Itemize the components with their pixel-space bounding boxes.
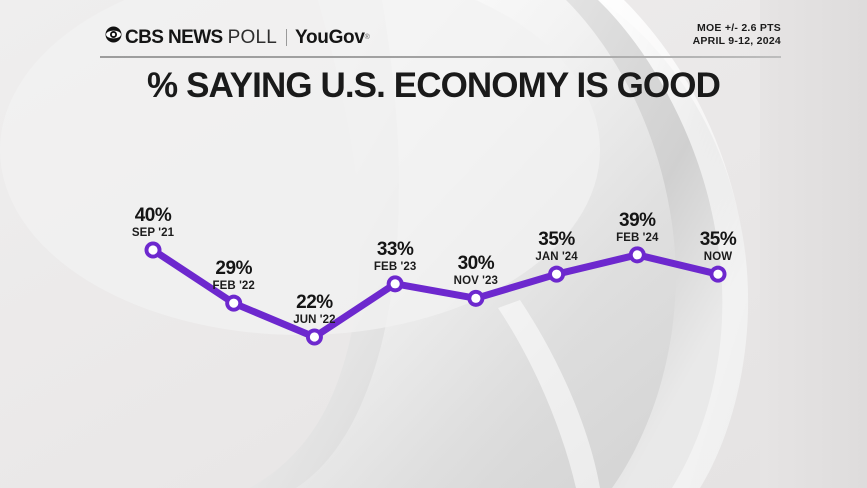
data-point-label: 22%JUN '22 <box>293 293 335 327</box>
data-point-value: 35% <box>700 230 737 249</box>
line-chart-plot <box>0 0 867 488</box>
data-point-marker <box>225 295 242 312</box>
data-point-label: 30%NOV '23 <box>454 254 498 288</box>
data-point-label: 35%NOW <box>700 230 737 264</box>
data-point-date: FEB '22 <box>212 281 254 293</box>
data-point-date: JAN '24 <box>535 252 577 264</box>
data-point-label: 29%FEB '22 <box>212 259 254 293</box>
data-point-label: 33%FEB '23 <box>374 240 416 274</box>
data-point-date: SEP '21 <box>132 228 174 240</box>
data-point-value: 29% <box>212 259 254 278</box>
data-point-marker <box>145 242 162 259</box>
data-point-label: 39%FEB '24 <box>616 211 658 245</box>
data-point-value: 35% <box>535 230 577 249</box>
data-point-value: 39% <box>616 211 658 230</box>
data-point-value: 30% <box>454 254 498 273</box>
data-point-label: 40%SEP '21 <box>132 206 174 240</box>
data-point-label: 35%JAN '24 <box>535 230 577 264</box>
data-point-date: FEB '23 <box>374 262 416 274</box>
data-point-date: NOW <box>700 252 737 264</box>
data-point-value: 22% <box>293 293 335 312</box>
data-point-date: JUN '22 <box>293 315 335 327</box>
data-point-date: FEB '24 <box>616 233 658 245</box>
data-point-value: 33% <box>374 240 416 259</box>
data-point-marker <box>710 266 727 283</box>
data-point-marker <box>467 290 484 307</box>
data-point-marker <box>387 275 404 292</box>
data-point-marker <box>306 329 323 346</box>
data-point-value: 40% <box>132 206 174 225</box>
chart-screenshot: CBS NEWS POLL YouGov® MOE +/- 2.6 PTS AP… <box>0 0 867 488</box>
data-point-marker <box>548 266 565 283</box>
data-point-marker <box>629 246 646 263</box>
data-point-date: NOV '23 <box>454 276 498 288</box>
